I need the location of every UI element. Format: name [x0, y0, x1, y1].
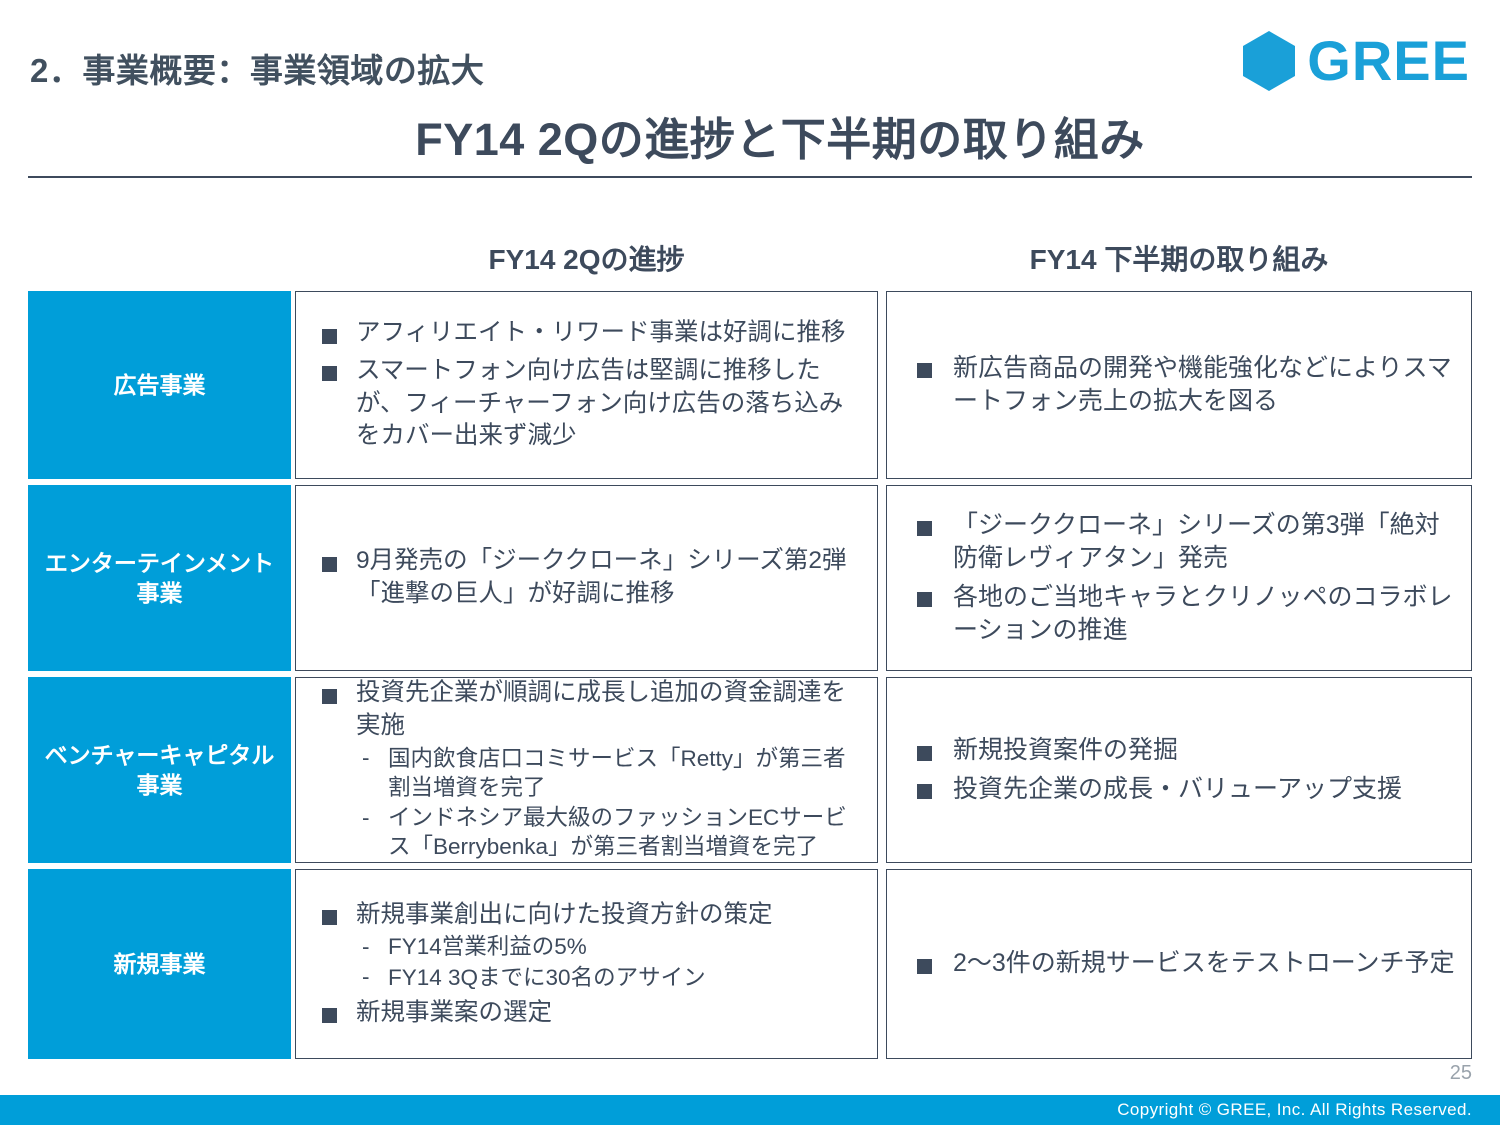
column-gap: [878, 869, 886, 1059]
column-heading-plans: FY14 下半期の取り組み: [886, 238, 1472, 278]
sub-list-item-text: インドネシア最大級のファッションECサービス「Berrybenka」が第三者割当…: [388, 805, 847, 859]
dash-icon: -: [362, 962, 370, 991]
slide: 2．事業概要：事業領域の拡大 FY14 2Qの進捗と下半期の取り組み GREE …: [0, 0, 1500, 1125]
sub-list-item-text: FY14 3Qまでに30名のアサイン: [388, 965, 706, 990]
page-title: FY14 2Qの進捗と下半期の取り組み: [0, 103, 1500, 168]
page-number: 25: [1450, 1062, 1472, 1085]
cell-progress-new-business: 新規事業創出に向けた投資方針の策定 -FY14営業利益の5% -FY14 3Qま…: [295, 869, 878, 1059]
row-label-advertising: 広告事業: [28, 291, 291, 479]
bullet-square-icon: [917, 784, 932, 799]
sub-bullet-list: -国内飲食店口コミサービス「Retty」が第三者割当増資を完了 -インドネシア最…: [356, 744, 861, 862]
cell-plans-venture-capital: 新規投資案件の発掘 投資先企業の成長・バリューアップ支援: [886, 677, 1472, 863]
sub-list-item: -国内飲食店口コミサービス「Retty」が第三者割当増資を完了: [356, 744, 861, 803]
column-heading-progress: FY14 2Qの進捗: [295, 238, 878, 278]
list-item: スマートフォン向け広告は堅調に推移したが、フィーチャーフォン向け広告の落ち込みを…: [310, 355, 861, 453]
bullet-square-icon: [917, 959, 932, 974]
bullet-list: 新規事業創出に向けた投資方針の策定 -FY14営業利益の5% -FY14 3Qま…: [310, 899, 861, 1030]
cell-plans-advertising: 新広告商品の開発や機能強化などによりスマートフォン売上の拡大を図る: [886, 291, 1472, 479]
bullet-square-icon: [917, 746, 932, 761]
list-item-text: 新規事業案の選定: [356, 999, 552, 1026]
list-item: 新規事業案の選定: [310, 997, 861, 1030]
bullet-list: 新広告商品の開発や機能強化などによりスマートフォン売上の拡大を図る: [901, 352, 1455, 419]
list-item: アフィリエイト・リワード事業は好調に推移: [310, 317, 861, 350]
column-gap: [878, 677, 886, 863]
dash-icon: -: [362, 932, 370, 961]
table-row: エンターテインメント事業 9月発売の「ジーククローネ」シリーズ第2弾「進撃の巨人…: [28, 485, 1472, 671]
bullet-list: アフィリエイト・リワード事業は好調に推移 スマートフォン向け広告は堅調に推移した…: [310, 317, 861, 452]
list-item: 「ジーククローネ」シリーズの第3弾「絶対防衛レヴィアタン」発売: [901, 509, 1455, 576]
bullet-square-icon: [917, 521, 932, 536]
list-item-text: 2〜3件の新規サービスをテストローンチ予定: [953, 949, 1455, 977]
bullet-list: 2〜3件の新規サービスをテストローンチ予定: [901, 947, 1455, 980]
business-table: 広告事業 アフィリエイト・リワード事業は好調に推移 スマートフォン向け広告は堅調…: [28, 291, 1472, 1059]
bullet-square-icon: [322, 329, 337, 344]
table-row: ベンチャーキャピタル事業 投資先企業が順調に成長し追加の資金調達を実施 -国内飲…: [28, 677, 1472, 863]
footer-bar: Copyright © GREE, Inc. All Rights Reserv…: [0, 1095, 1500, 1125]
list-item: 新規事業創出に向けた投資方針の策定 -FY14営業利益の5% -FY14 3Qま…: [310, 899, 861, 992]
list-item: 新規投資案件の発掘: [901, 734, 1455, 767]
cell-plans-new-business: 2〜3件の新規サービスをテストローンチ予定: [886, 869, 1472, 1059]
bullet-list: 新規投資案件の発掘 投資先企業の成長・バリューアップ支援: [901, 734, 1455, 806]
list-item: 9月発売の「ジーククローネ」シリーズ第2弾「進撃の巨人」が好調に推移: [310, 545, 861, 610]
table-row: 新規事業 新規事業創出に向けた投資方針の策定 -FY14営業利益の5% -FY1…: [28, 869, 1472, 1059]
copyright-text: Copyright © GREE, Inc. All Rights Reserv…: [1117, 1100, 1472, 1120]
list-item-text: アフィリエイト・リワード事業は好調に推移: [356, 319, 846, 346]
sub-list-item: -FY14営業利益の5%: [356, 932, 861, 961]
list-item-text: 各地のご当地キャラとクリノッペのコラボレーションの推進: [953, 583, 1453, 644]
cell-progress-advertising: アフィリエイト・リワード事業は好調に推移 スマートフォン向け広告は堅調に推移した…: [295, 291, 878, 479]
list-item: 各地のご当地キャラとクリノッペのコラボレーションの推進: [901, 581, 1455, 648]
bullet-square-icon: [322, 366, 337, 381]
table-row: 広告事業 アフィリエイト・リワード事業は好調に推移 スマートフォン向け広告は堅調…: [28, 291, 1472, 479]
sub-list-item: -インドネシア最大級のファッションECサービス「Berrybenka」が第三者割…: [356, 803, 861, 862]
bullet-square-icon: [322, 1008, 337, 1023]
row-label-entertainment: エンターテインメント事業: [28, 485, 291, 671]
bullet-square-icon: [917, 363, 932, 378]
list-item-text: 9月発売の「ジーククローネ」シリーズ第2弾「進撃の巨人」が好調に推移: [356, 547, 847, 607]
column-gap: [878, 291, 886, 479]
list-item-text: 新規事業創出に向けた投資方針の策定: [356, 901, 773, 928]
column-gap: [878, 485, 886, 671]
sub-bullet-list: -FY14営業利益の5% -FY14 3Qまでに30名のアサイン: [356, 932, 861, 992]
list-item-text: 新規投資案件の発掘: [953, 736, 1178, 764]
list-item: 投資先企業が順調に成長し追加の資金調達を実施 -国内飲食店口コミサービス「Ret…: [310, 677, 861, 861]
bullet-square-icon: [322, 689, 337, 704]
row-label-new-business: 新規事業: [28, 869, 291, 1059]
sub-list-item: -FY14 3Qまでに30名のアサイン: [356, 963, 861, 992]
bullet-list: 投資先企業が順調に成長し追加の資金調達を実施 -国内飲食店口コミサービス「Ret…: [310, 677, 861, 862]
cell-progress-entertainment: 9月発売の「ジーククローネ」シリーズ第2弾「進撃の巨人」が好調に推移: [295, 485, 878, 671]
header-divider: [28, 176, 1472, 178]
slide-kicker: 2．事業概要：事業領域の拡大: [30, 44, 484, 92]
gree-logo: GREE: [1241, 30, 1470, 92]
list-item-text: スマートフォン向け広告は堅調に推移したが、フィーチャーフォン向け広告の落ち込みを…: [356, 357, 843, 449]
dash-icon: -: [362, 803, 370, 832]
sub-list-item-text: FY14営業利益の5%: [388, 934, 587, 959]
list-item: 2〜3件の新規サービスをテストローンチ予定: [901, 947, 1455, 980]
list-item-text: 投資先企業が順調に成長し追加の資金調達を実施: [356, 679, 846, 739]
bullet-list: 「ジーククローネ」シリーズの第3弾「絶対防衛レヴィアタン」発売 各地のご当地キャ…: [901, 509, 1455, 647]
list-item: 投資先企業の成長・バリューアップ支援: [901, 773, 1455, 806]
list-item-text: 「ジーククローネ」シリーズの第3弾「絶対防衛レヴィアタン」発売: [953, 511, 1440, 572]
list-item-text: 新広告商品の開発や機能強化などによりスマートフォン売上の拡大を図る: [953, 354, 1452, 415]
sub-list-item-text: 国内飲食店口コミサービス「Retty」が第三者割当増資を完了: [388, 746, 846, 800]
bullet-list: 9月発売の「ジーククローネ」シリーズ第2弾「進撃の巨人」が好調に推移: [310, 545, 861, 610]
gree-logo-text: GREE: [1307, 33, 1470, 89]
cell-progress-venture-capital: 投資先企業が順調に成長し追加の資金調達を実施 -国内飲食店口コミサービス「Ret…: [295, 677, 878, 863]
hexagon-icon: [1241, 30, 1297, 92]
list-item: 新広告商品の開発や機能強化などによりスマートフォン売上の拡大を図る: [901, 352, 1455, 419]
list-item-text: 投資先企業の成長・バリューアップ支援: [953, 775, 1402, 803]
bullet-square-icon: [917, 592, 932, 607]
bullet-square-icon: [322, 557, 337, 572]
bullet-square-icon: [322, 910, 337, 925]
dash-icon: -: [362, 743, 370, 772]
cell-plans-entertainment: 「ジーククローネ」シリーズの第3弾「絶対防衛レヴィアタン」発売 各地のご当地キャ…: [886, 485, 1472, 671]
row-label-venture-capital: ベンチャーキャピタル事業: [28, 677, 291, 863]
